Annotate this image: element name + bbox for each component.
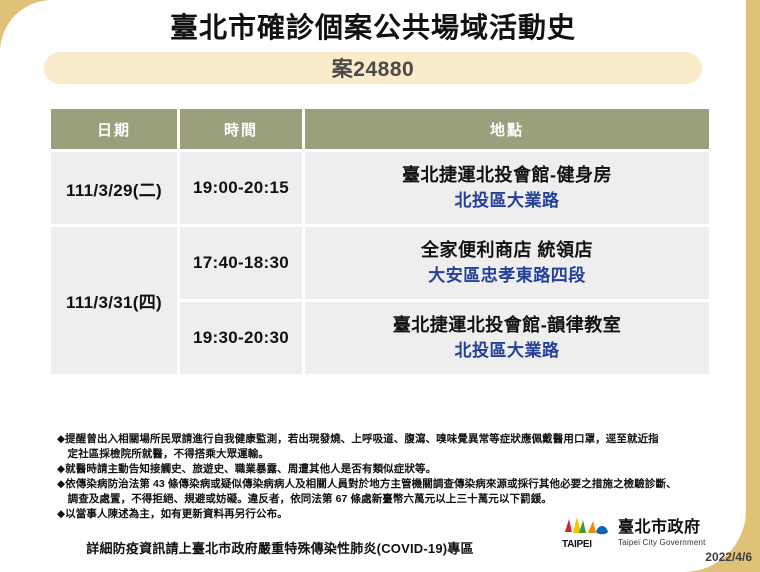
place-name: 全家便利商店 統領店 xyxy=(305,237,709,263)
page-title: 臺北市確診個案公共場域活動史 xyxy=(0,8,746,48)
cell-place: 臺北捷運北投會館-韻律教室北投區大業路 xyxy=(305,302,709,374)
publish-date-stamp: 2022/4/6 xyxy=(705,550,752,564)
table-row: 111/3/29(二)19:00-20:15臺北捷運北投會館-健身房北投區大業路 xyxy=(51,152,709,224)
column-header-place: 地點 xyxy=(305,109,709,149)
notes-block: ◆提醒曾出入相關場所民眾請進行自我健康監測，若出現發燒、上呼吸道、腹瀉、嗅味覺異… xyxy=(57,432,717,522)
note-line: 調查及處置，不得拒絕、規避或妨礙。違反者，依同法第 67 條處新臺幣六萬元以上三… xyxy=(57,492,717,507)
note-line: ◆提醒曾出入相關場所民眾請進行自我健康監測，若出現發燒、上呼吸道、腹瀉、嗅味覺異… xyxy=(57,432,717,447)
place-name: 臺北捷運北投會館-韻律教室 xyxy=(305,312,709,338)
poster-header: 臺北市確診個案公共場域活動史 案24880 xyxy=(0,8,746,84)
case-number-label: 案24880 xyxy=(332,53,414,83)
cell-time: 19:30-20:30 xyxy=(180,302,302,374)
place-address: 大安區忠孝東路四段 xyxy=(305,263,709,289)
cell-time: 19:00-20:15 xyxy=(180,152,302,224)
cell-place: 臺北捷運北投會館-健身房北投區大業路 xyxy=(305,152,709,224)
place-address: 北投區大業路 xyxy=(305,188,709,214)
logo-name-chinese: 臺北市政府 xyxy=(618,520,706,536)
note-line: 定社區採檢院所就醫，不得搭乘大眾運輸。 xyxy=(57,447,717,462)
cell-date: 111/3/31(四) xyxy=(51,227,177,374)
cell-place: 全家便利商店 統領店大安區忠孝東路四段 xyxy=(305,227,709,299)
activity-history-table: 日期 時間 地點 111/3/29(二)19:00-20:15臺北捷運北投會館-… xyxy=(48,106,712,377)
table-row: 111/3/31(四)17:40-18:30全家便利商店 統領店大安區忠孝東路四… xyxy=(51,227,709,299)
cell-time: 17:40-18:30 xyxy=(180,227,302,299)
logo-text-group: 臺北市政府 Taipei City Government xyxy=(618,520,706,547)
table-body: 111/3/29(二)19:00-20:15臺北捷運北投會館-健身房北投區大業路… xyxy=(51,152,709,374)
taipei-city-government-logo: TAIPEI 臺北市政府 Taipei City Government xyxy=(562,516,706,550)
footer-info-line: 詳細防疫資訊請上臺北市政府嚴重特殊傳染性肺炎(COVID-19)專區 xyxy=(0,538,560,557)
place-name: 臺北捷運北投會館-健身房 xyxy=(305,162,709,188)
place-address: 北投區大業路 xyxy=(305,338,709,364)
case-number-banner: 案24880 xyxy=(44,52,702,84)
note-line: ◆依傳染病防治法第 43 條傳染病或疑似傳染病病人及相關人員對於地方主管機關調查… xyxy=(57,477,717,492)
taipei-brush-mark-icon: TAIPEI xyxy=(562,516,612,550)
column-header-time: 時間 xyxy=(180,109,302,149)
cell-date: 111/3/29(二) xyxy=(51,152,177,224)
taipei-wordmark: TAIPEI xyxy=(562,539,592,550)
table-header-row: 日期 時間 地點 xyxy=(51,109,709,149)
column-header-date: 日期 xyxy=(51,109,177,149)
logo-name-english: Taipei City Government xyxy=(618,539,706,547)
note-line: ◆就醫時請主動告知接觸史、旅遊史、職業暴露、周遭其他人是否有類似症狀等。 xyxy=(57,462,717,477)
